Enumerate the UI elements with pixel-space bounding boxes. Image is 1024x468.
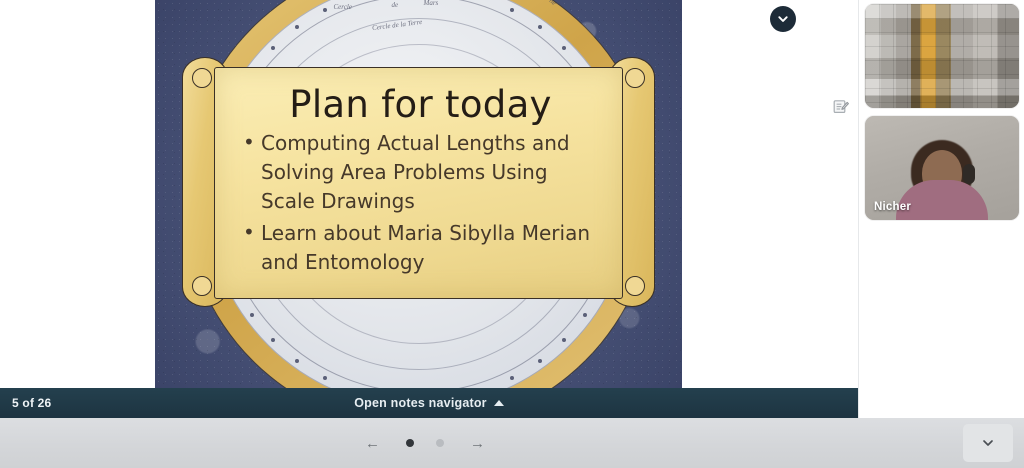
pagination-dot[interactable] [436, 439, 444, 447]
next-slide-arrow[interactable]: → [470, 436, 485, 451]
participant-video-panel: Nicher [858, 0, 1024, 418]
scroll-curl-top-right [625, 68, 645, 88]
slide-bullet-item: Learn about Maria Sibylla Merian and Ent… [241, 219, 600, 277]
note-edit-icon [832, 98, 850, 116]
video-tile[interactable]: Nicher [865, 116, 1019, 220]
slide-counter: 5 of 26 [12, 396, 51, 410]
open-notes-button[interactable] [831, 97, 851, 117]
astrolabe-label-de-2: de [392, 1, 399, 9]
slide-bullet-item: Computing Actual Lengths and Solving Are… [241, 129, 600, 215]
slide-pagination: ← → [365, 432, 485, 454]
astrolabe-rivet [562, 338, 566, 342]
slide-canvas[interactable]: Cercle de Jupiter Cercle de Mars Cercle … [155, 0, 682, 388]
astrolabe-label-mars: Mars [424, 0, 439, 7]
astrolabe-rivet [250, 313, 254, 317]
astrolabe-rivet [562, 46, 566, 50]
slide-title: Plan for today [241, 86, 600, 123]
avatar-torso [896, 180, 988, 220]
slide-bullet-list: Computing Actual Lengths and Solving Are… [241, 129, 600, 277]
censored-video-feed [865, 4, 1019, 108]
astrolabe-label-cercle-2: Cercle [334, 3, 352, 11]
astrolabe-rivet [323, 8, 327, 12]
astrolabe-rivet [295, 359, 299, 363]
astrolabe-rivet [538, 25, 542, 29]
scroll-curl-bottom-right [625, 276, 645, 296]
collapse-panel-button[interactable] [770, 6, 796, 32]
astrolabe-rivet [295, 25, 299, 29]
open-notes-navigator-button[interactable]: Open notes navigator [354, 396, 504, 410]
astrolabe-rivet [271, 46, 275, 50]
open-notes-navigator-label: Open notes navigator [354, 396, 487, 410]
presentation-viewer: Cercle de Jupiter Cercle de Mars Cercle … [0, 0, 1024, 468]
pagination-dots [406, 439, 444, 447]
previous-slide-arrow[interactable]: ← [365, 436, 380, 451]
chevron-down-icon [980, 435, 996, 451]
video-tile[interactable] [865, 4, 1019, 108]
pagination-dot-active[interactable] [406, 439, 414, 447]
scroll-curl-bottom-left [192, 276, 212, 296]
astrolabe-rivet [271, 338, 275, 342]
chevron-down-icon [776, 12, 790, 26]
slide-text-block: Plan for today Computing Actual Lengths … [215, 68, 622, 298]
expand-bottom-panel-button[interactable] [963, 424, 1013, 462]
parchment-panel: Plan for today Computing Actual Lengths … [214, 67, 623, 299]
bottom-navigation-strip: ← → [0, 418, 1024, 468]
main-presentation-column: Cercle de Jupiter Cercle de Mars Cercle … [0, 0, 858, 468]
scroll-graphic: Plan for today Computing Actual Lengths … [182, 53, 655, 311]
astrolabe-rivet [583, 313, 587, 317]
astrolabe-label-saturne: Saturne [535, 0, 557, 7]
presenter-toolbar: 5 of 26 Open notes navigator [0, 388, 858, 418]
astrolabe-rivet [510, 8, 514, 12]
avatar-headset [963, 164, 975, 184]
scroll-curl-top-left [192, 68, 212, 88]
caret-up-icon [494, 400, 504, 406]
astrolabe-rivet [510, 376, 514, 380]
astrolabe-rivet [538, 359, 542, 363]
participant-name-label: Nicher [874, 201, 911, 213]
slide-stage: Cercle de Jupiter Cercle de Mars Cercle … [0, 0, 858, 388]
